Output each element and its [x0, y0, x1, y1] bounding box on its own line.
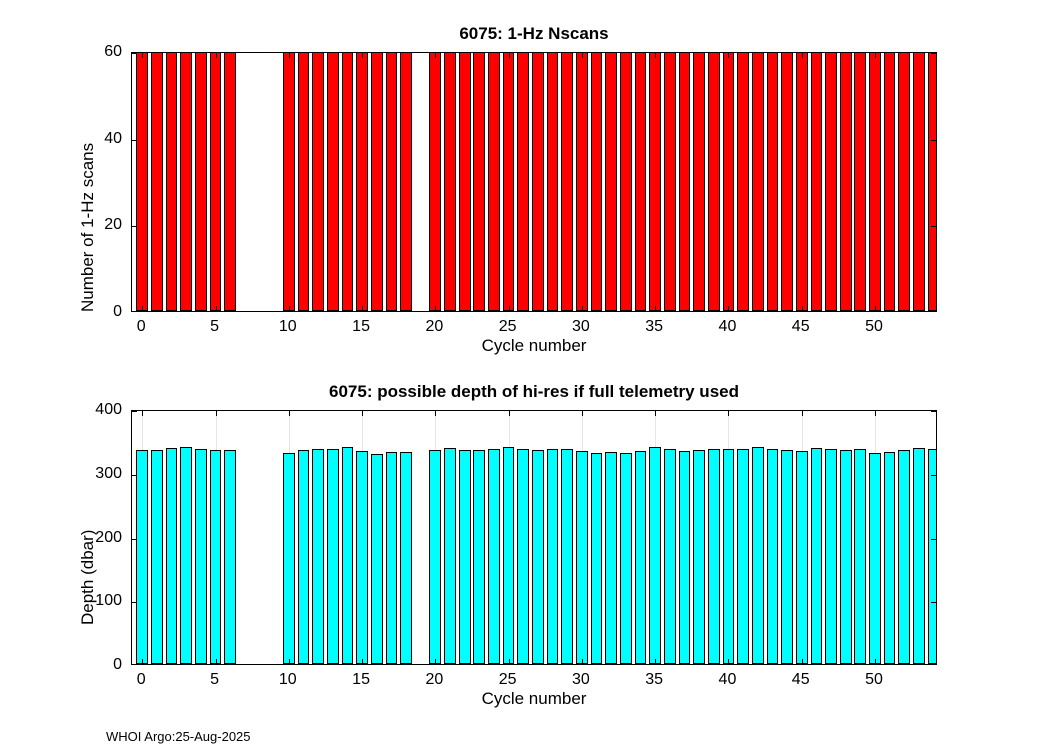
nscans-xtick-label: 30 — [572, 318, 590, 336]
depth-bar — [781, 450, 793, 664]
depth-bar — [635, 451, 647, 664]
nscans-bar — [136, 52, 148, 311]
nscans-xtickmark — [509, 306, 510, 311]
nscans-bar — [224, 52, 236, 311]
nscans-xtick-label: 5 — [210, 318, 219, 336]
nscans-xtickmark-top — [362, 53, 363, 58]
chart-nscans-title: 6075: 1-Hz Nscans — [131, 24, 937, 44]
depth-ytickmark-right — [931, 411, 936, 412]
depth-bar — [854, 449, 866, 664]
nscans-bar — [767, 52, 779, 311]
nscans-xtickmark — [362, 306, 363, 311]
nscans-bar — [693, 52, 705, 311]
nscans-bar — [371, 52, 383, 311]
depth-xtick-label: 30 — [572, 671, 590, 689]
nscans-bar — [488, 52, 500, 311]
nscans-bar — [913, 52, 925, 311]
depth-xtick-label: 10 — [279, 671, 297, 689]
nscans-bar — [752, 52, 764, 311]
nscans-xtickmark-top — [582, 53, 583, 58]
chart-depth-xlabel: Cycle number — [131, 689, 937, 709]
nscans-bar — [195, 52, 207, 311]
depth-bar — [884, 452, 896, 664]
depth-bar — [723, 449, 735, 664]
depth-bar — [708, 449, 720, 664]
chart-depth-ylabel: Depth (dbar) — [78, 530, 98, 625]
chart-nscans-plot — [131, 52, 937, 312]
nscans-bar — [561, 52, 573, 311]
depth-ytick-label: 400 — [42, 401, 122, 419]
nscans-bar — [429, 52, 441, 311]
depth-xtick-label: 50 — [865, 671, 883, 689]
depth-xtick-label: 15 — [352, 671, 370, 689]
nscans-xtickmark — [728, 306, 729, 311]
depth-xtickmark — [142, 659, 143, 664]
nscans-bar — [723, 52, 735, 311]
depth-xtick-label: 20 — [425, 671, 443, 689]
footer-credit: WHOI Argo:25-Aug-2025 — [106, 729, 251, 744]
nscans-bar — [327, 52, 339, 311]
nscans-bar — [811, 52, 823, 311]
depth-ytickmark — [132, 539, 137, 540]
nscans-xtickmark — [582, 306, 583, 311]
depth-bar — [605, 452, 617, 664]
depth-bar — [576, 451, 588, 664]
nscans-bar — [781, 52, 793, 311]
depth-ytickmark — [132, 602, 137, 603]
chart-depth-plot — [131, 410, 937, 665]
nscans-xtickmark-top — [509, 53, 510, 58]
nscans-bar — [825, 52, 837, 311]
depth-xtickmark — [509, 659, 510, 664]
depth-bar — [180, 447, 192, 664]
nscans-xtick-label: 35 — [645, 318, 663, 336]
nscans-bar — [796, 52, 808, 311]
depth-bar — [664, 449, 676, 664]
nscans-xtickmark-top — [435, 53, 436, 58]
depth-bar — [429, 450, 441, 664]
depth-xtickmark-top — [655, 411, 656, 416]
nscans-xtickmark-top — [875, 53, 876, 58]
depth-bar — [913, 448, 925, 664]
nscans-bar — [649, 52, 661, 311]
depth-bar — [488, 449, 500, 664]
depth-xtickmark-top — [728, 411, 729, 416]
depth-xtickmark-top — [142, 411, 143, 416]
nscans-bar — [664, 52, 676, 311]
depth-bar — [400, 452, 412, 664]
depth-bar — [620, 453, 632, 664]
nscans-bar — [854, 52, 866, 311]
depth-ytick-label: 0 — [42, 656, 122, 674]
nscans-xtickmark — [435, 306, 436, 311]
nscans-xtick-label: 50 — [865, 318, 883, 336]
depth-bar — [151, 450, 163, 664]
nscans-xtickmark-top — [216, 53, 217, 58]
nscans-bar — [503, 52, 515, 311]
depth-xtickmark-top — [509, 411, 510, 416]
nscans-bar — [151, 52, 163, 311]
depth-xtick-label: 0 — [137, 671, 146, 689]
depth-bar — [869, 453, 881, 664]
nscans-bar — [210, 52, 222, 311]
depth-xtickmark — [728, 659, 729, 664]
depth-bar — [210, 450, 222, 664]
depth-xtickmark — [435, 659, 436, 664]
nscans-bar — [283, 52, 295, 311]
depth-bar — [136, 450, 148, 664]
nscans-ytickmark — [132, 140, 137, 141]
nscans-xtickmark-top — [655, 53, 656, 58]
nscans-ytick-label: 60 — [42, 43, 122, 61]
nscans-bar — [400, 52, 412, 311]
depth-xtickmark — [216, 659, 217, 664]
depth-bar — [928, 449, 937, 664]
depth-bar — [649, 447, 661, 664]
nscans-ytickmark-right — [931, 140, 936, 141]
depth-bar — [840, 450, 852, 664]
depth-bar — [444, 448, 456, 664]
depth-xtick-label: 45 — [792, 671, 810, 689]
nscans-ytickmark — [132, 53, 137, 54]
depth-bar — [517, 449, 529, 664]
nscans-bar — [591, 52, 603, 311]
nscans-ytickmark-right — [931, 226, 936, 227]
nscans-xtickmark — [655, 306, 656, 311]
nscans-bar — [869, 52, 881, 311]
depth-xtickmark — [802, 659, 803, 664]
depth-bar — [356, 451, 368, 664]
nscans-bar — [679, 52, 691, 311]
nscans-bar — [180, 52, 192, 311]
nscans-xtickmark — [216, 306, 217, 311]
depth-bar — [224, 450, 236, 664]
nscans-xtick-label: 45 — [792, 318, 810, 336]
chart-nscans-xlabel: Cycle number — [131, 336, 937, 356]
depth-xtickmark-top — [362, 411, 363, 416]
nscans-xtick-label: 0 — [137, 318, 146, 336]
depth-ytickmark — [132, 475, 137, 476]
nscans-bar — [342, 52, 354, 311]
depth-xtickmark-top — [435, 411, 436, 416]
nscans-bar — [928, 52, 937, 311]
depth-bar — [195, 449, 207, 664]
nscans-xtickmark — [802, 306, 803, 311]
depth-ytick-label: 300 — [42, 465, 122, 483]
depth-bar — [166, 448, 178, 664]
depth-xtick-label: 35 — [645, 671, 663, 689]
depth-ytickmark-right — [931, 539, 936, 540]
depth-ytickmark-right — [931, 475, 936, 476]
depth-bar — [371, 454, 383, 664]
nscans-bar — [356, 52, 368, 311]
nscans-bar — [312, 52, 324, 311]
depth-bar — [811, 448, 823, 664]
chart-nscans: 6075: 1-Hz Nscans Cycle number 051015202… — [131, 52, 937, 312]
depth-xtickmark — [289, 659, 290, 664]
depth-bar — [342, 447, 354, 664]
nscans-xtickmark — [875, 306, 876, 311]
nscans-bar — [517, 52, 529, 311]
nscans-ytickmark — [132, 226, 137, 227]
depth-bar — [459, 450, 471, 664]
depth-xtickmark-top — [802, 411, 803, 416]
nscans-bar — [547, 52, 559, 311]
nscans-xtick-label: 20 — [425, 318, 443, 336]
depth-bar — [693, 450, 705, 664]
nscans-xtickmark — [289, 306, 290, 311]
nscans-bar — [298, 52, 310, 311]
nscans-bar — [898, 52, 910, 311]
nscans-xtick-label: 40 — [719, 318, 737, 336]
depth-xtickmark-top — [875, 411, 876, 416]
depth-bar — [503, 447, 515, 664]
depth-xtick-label: 40 — [719, 671, 737, 689]
depth-bar — [898, 450, 910, 664]
depth-xtickmark — [362, 659, 363, 664]
nscans-xtickmark — [142, 306, 143, 311]
depth-bar — [767, 449, 779, 664]
depth-bar — [547, 449, 559, 664]
nscans-bar — [708, 52, 720, 311]
nscans-xtick-label: 25 — [499, 318, 517, 336]
depth-bar — [283, 453, 295, 664]
chart-depth: 6075: possible depth of hi-res if full t… — [131, 410, 937, 665]
nscans-xtickmark-top — [289, 53, 290, 58]
depth-xtickmark-top — [289, 411, 290, 416]
nscans-xtickmark-top — [142, 53, 143, 58]
depth-bar — [386, 452, 398, 664]
depth-xtickmark — [582, 659, 583, 664]
depth-xtickmark-top — [216, 411, 217, 416]
figure: 6075: 1-Hz Nscans Cycle number 051015202… — [0, 0, 1050, 750]
depth-bar — [473, 450, 485, 664]
depth-xtickmark — [875, 659, 876, 664]
nscans-bar — [459, 52, 471, 311]
nscans-bar — [620, 52, 632, 311]
nscans-bar — [884, 52, 896, 311]
depth-xtickmark — [655, 659, 656, 664]
depth-ytickmark-right — [931, 602, 936, 603]
nscans-bar — [444, 52, 456, 311]
depth-bar — [532, 450, 544, 664]
depth-bar — [591, 453, 603, 664]
depth-bar — [298, 450, 310, 664]
depth-bar — [679, 451, 691, 664]
depth-bar — [737, 449, 749, 664]
depth-bar — [312, 449, 324, 664]
depth-bar — [825, 449, 837, 664]
nscans-bar — [386, 52, 398, 311]
depth-ytickmark — [132, 411, 137, 412]
depth-bar — [796, 451, 808, 664]
nscans-bar — [840, 52, 852, 311]
depth-xtick-label: 5 — [210, 671, 219, 689]
nscans-xtickmark-top — [728, 53, 729, 58]
depth-bar — [752, 447, 764, 664]
depth-xtick-label: 25 — [499, 671, 517, 689]
depth-bar — [561, 449, 573, 664]
nscans-ytickmark-right — [931, 53, 936, 54]
chart-nscans-ylabel: Number of 1-Hz scans — [78, 143, 98, 312]
chart-depth-title: 6075: possible depth of hi-res if full t… — [131, 382, 937, 402]
depth-bar — [327, 449, 339, 664]
nscans-bar — [576, 52, 588, 311]
nscans-xtick-label: 15 — [352, 318, 370, 336]
nscans-bar — [737, 52, 749, 311]
nscans-bar — [605, 52, 617, 311]
nscans-bar — [473, 52, 485, 311]
depth-xtickmark-top — [582, 411, 583, 416]
nscans-bar — [166, 52, 178, 311]
nscans-bar — [532, 52, 544, 311]
nscans-bar — [635, 52, 647, 311]
nscans-xtick-label: 10 — [279, 318, 297, 336]
nscans-xtickmark-top — [802, 53, 803, 58]
